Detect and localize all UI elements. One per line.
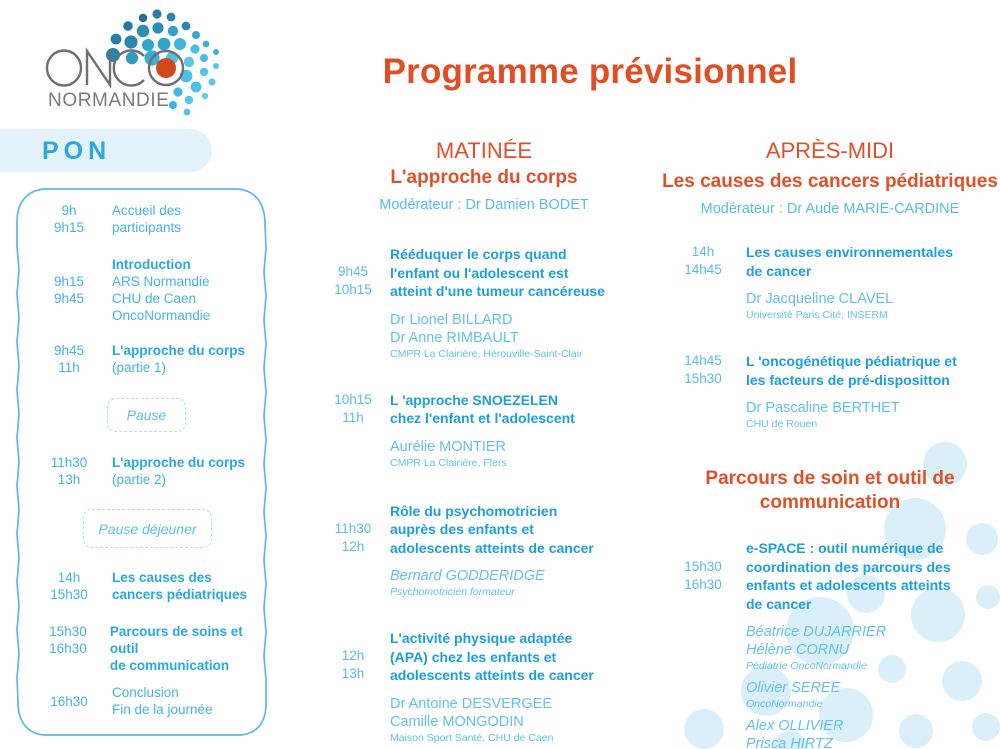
agenda-times: 9h15 9h45: [34, 256, 104, 324]
agenda-line: L'approche du corps: [112, 342, 245, 359]
agenda-time-start: 15h30: [34, 623, 102, 640]
agenda-time-start: 14h: [34, 569, 104, 586]
speaker-affiliation: CHU de Rouen: [746, 417, 1000, 431]
session-title-line: adolescents atteints de cancer: [390, 539, 652, 558]
session-title-line: de cancer: [746, 262, 1000, 281]
agenda-body: L'approche du corps (partie 2): [112, 454, 245, 488]
section2-heading-line: communication: [660, 491, 1000, 515]
speaker-name: Alex OLLIVIER: [746, 717, 1000, 735]
agenda-line: cancers pédiatriques: [112, 586, 247, 603]
session-speakers: Dr Pascaline BERTHET CHU de Rouen: [746, 399, 1000, 431]
speaker-name: Olivier SEREE: [746, 679, 1000, 697]
session-time-end: 15h30: [660, 370, 746, 388]
agenda-line: (partie 1): [112, 359, 245, 376]
agenda-times: 14h 15h30: [34, 569, 104, 603]
session-title-line: L 'oncogénétique pédiatrique et: [746, 352, 1000, 371]
lunch-pause-label: Pause déjeuner: [98, 521, 196, 537]
agenda-line: Les causes des: [112, 569, 247, 586]
agenda-row: 9h15 9h45 Introduction ARS Normandie CHU…: [34, 256, 210, 324]
agenda-time-end: 11h: [34, 359, 104, 376]
session-title-line: Les causes environnementales: [746, 243, 1000, 262]
session-time-start: 10h15: [316, 391, 390, 409]
agenda-line: Accueil des: [112, 202, 181, 219]
page-title: Programme prévisionnel: [330, 52, 850, 92]
session-times: 10h15 11h: [316, 391, 390, 470]
agenda-time-end: 13h: [34, 471, 104, 488]
session-title: Rôle du psychomotricien auprès des enfan…: [390, 502, 652, 558]
session-main: Les causes environnementales de cancer D…: [746, 243, 1000, 322]
session-time-end: 11h: [316, 409, 390, 427]
session-title-line: auprès des enfants et: [390, 520, 652, 539]
agenda-row: 9h 9h15 Accueil des participants: [34, 202, 181, 236]
svg-text:NORMANDIE: NORMANDIE: [48, 90, 170, 111]
speaker-name: Dr Anne RIMBAULT: [390, 329, 652, 347]
agenda-line: participants: [112, 219, 181, 236]
session-time-start: 15h30: [660, 558, 746, 576]
session-title-line: enfants et adolescents atteints: [746, 576, 1000, 595]
agenda-line: de communication: [110, 657, 270, 674]
agenda-time-start: 16h30: [34, 693, 104, 710]
agenda-row: 9h45 11h L'approche du corps (partie 1): [34, 342, 245, 376]
session-title-line: coordination des parcours des: [746, 558, 1000, 577]
session-title-line: les facteurs de pré-dispositton: [746, 371, 1000, 390]
agenda-time-end: 9h15: [34, 219, 104, 236]
agenda-times: 9h45 11h: [34, 342, 104, 376]
agenda-row: 14h 15h30 Les causes des cancers pédiatr…: [34, 569, 247, 603]
session-main: e-SPACE : outil numérique de coordinatio…: [746, 539, 1000, 749]
session-main: L'activité physique adaptée (APA) chez l…: [390, 629, 652, 745]
session-times: 15h30 16h30: [660, 539, 746, 749]
session-time-end: 10h15: [316, 281, 390, 299]
agenda-body: Introduction ARS Normandie CHU de Caen O…: [112, 256, 210, 324]
session-title-line: L 'approche SNOEZELEN: [390, 391, 652, 410]
pon-label: PON: [42, 137, 111, 166]
session-item: 14h 14h45 Les causes environnementales d…: [660, 243, 1000, 322]
agenda-time-end: 15h30: [34, 586, 104, 603]
speaker-name: Dr Lionel BILLARD: [390, 311, 652, 329]
session-title-line: adolescents atteints de cancer: [390, 666, 652, 685]
morning-subheading: L'approche du corps: [316, 166, 652, 190]
agenda-times: 11h30 13h: [34, 454, 104, 488]
agenda-time-end: 9h45: [34, 290, 104, 307]
session-time-end: 14h45: [660, 261, 746, 279]
session-time-start: 12h: [316, 647, 390, 665]
speaker-name: Dr Jacqueline CLAVEL: [746, 290, 1000, 308]
agenda-row: 15h30 16h30 Parcours de soins et outil d…: [34, 623, 270, 674]
agenda-line: ARS Normandie: [112, 273, 210, 290]
session-title: Les causes environnementales de cancer: [746, 243, 1000, 280]
speaker-affiliation: CMPR La Clairière, Flers: [390, 456, 652, 470]
pause-box: Pause: [107, 398, 186, 432]
agenda-body: L'approche du corps (partie 1): [112, 342, 245, 376]
agenda-line: Introduction: [112, 256, 210, 273]
slide-root: NORMANDIE PON Programme prévisionnel 9h …: [0, 0, 1000, 749]
session-speakers: Aurélie MONTIER CMPR La Clairière, Flers: [390, 438, 652, 470]
session-title-line: chez l'enfant et l'adolescent: [390, 409, 652, 428]
afternoon-column: APRÈS-MIDI Les causes des cancers pédiat…: [660, 138, 1000, 749]
session-title: e-SPACE : outil numérique de coordinatio…: [746, 539, 1000, 613]
session-speakers: Dr Antoine DESVERGEE Camille MONGODIN Ma…: [390, 695, 652, 745]
session-time-start: 14h: [660, 243, 746, 261]
session-time-end: 12h: [316, 538, 390, 556]
speaker-name: Camille MONGODIN: [390, 713, 652, 731]
speaker-name: Dr Antoine DESVERGEE: [390, 695, 652, 713]
session-title: L 'oncogénétique pédiatrique et les fact…: [746, 352, 1000, 389]
agenda-list: 9h 9h15 Accueil des participants 9h15 9h…: [14, 186, 270, 738]
onco-normandie-logo-icon: NORMANDIE: [40, 6, 230, 118]
session-item: 11h30 12h Rôle du psychomotricien auprès…: [316, 502, 652, 600]
speaker-name: Dr Pascaline BERTHET: [746, 399, 1000, 417]
lunch-pause-box: Pause déjeuner: [83, 509, 212, 548]
session-title-line: (APA) chez les enfants et: [390, 648, 652, 667]
speaker-affiliation: Psychomotricien formateur: [390, 585, 652, 599]
session-main: Rôle du psychomotricien auprès des enfan…: [390, 502, 652, 600]
agenda-body: Parcours de soins et outil de communicat…: [110, 623, 270, 674]
agenda-line: Parcours de soins et outil: [110, 623, 270, 657]
session-time-end: 16h30: [660, 576, 746, 594]
session-time-start: 11h30: [316, 520, 390, 538]
speaker-name: Prisca HIRTZ: [746, 735, 1000, 749]
agenda-body: Les causes des cancers pédiatriques: [112, 569, 247, 603]
afternoon-section2-heading: Parcours de soin et outil de communicati…: [660, 467, 1000, 515]
agenda-times: 9h 9h15: [34, 202, 104, 236]
morning-moderator: Modérateur : Dr Damien BODET: [316, 197, 652, 213]
afternoon-subheading: Les causes des cancers pédiatriques: [660, 170, 1000, 194]
session-times: 12h 13h: [316, 629, 390, 745]
session-time-end: 13h: [316, 665, 390, 683]
session-item: 9h45 10h15 Rééduquer le corps quand l'en…: [316, 245, 652, 361]
session-time-start: 9h45: [316, 263, 390, 281]
session-title: Rééduquer le corps quand l'enfant ou l'a…: [390, 245, 652, 301]
agenda-body: Accueil des participants: [112, 202, 181, 236]
speaker-affiliation: OncoNormandie: [746, 697, 1000, 711]
afternoon-moderator: Modérateur : Dr Aude MARIE-CARDINE: [660, 201, 1000, 217]
session-title-line: de cancer: [746, 595, 1000, 614]
agenda-times: 16h30: [34, 684, 104, 718]
session-item: 14h45 15h30 L 'oncogénétique pédiatrique…: [660, 352, 1000, 431]
agenda-time-start: 11h30: [34, 454, 104, 471]
session-main: Rééduquer le corps quand l'enfant ou l'a…: [390, 245, 652, 361]
speaker-name: Aurélie MONTIER: [390, 438, 652, 456]
session-item: 10h15 11h L 'approche SNOEZELEN chez l'e…: [316, 391, 652, 470]
pause-label: Pause: [127, 407, 167, 423]
morning-column: MATINÉE L'approche du corps Modérateur :…: [316, 138, 652, 745]
session-title-line: atteint d'une tumeur cancéreuse: [390, 282, 652, 301]
agenda-time-end: 16h30: [34, 640, 102, 657]
afternoon-heading: APRÈS-MIDI: [660, 138, 1000, 164]
session-item: 12h 13h L'activité physique adaptée (APA…: [316, 629, 652, 745]
session-title: L 'approche SNOEZELEN chez l'enfant et l…: [390, 391, 652, 428]
speaker-name: Hélène CORNU: [746, 641, 1000, 659]
agenda-row: 16h30 Conclusion Fin de la journée: [34, 684, 213, 718]
session-speakers: Bernard GODDERIDGE Psychomotricien forma…: [390, 567, 652, 599]
session-times: 14h45 15h30: [660, 352, 746, 431]
session-title: L'activité physique adaptée (APA) chez l…: [390, 629, 652, 685]
session-speakers: Dr Jacqueline CLAVEL Université Paris Ci…: [746, 290, 1000, 322]
agenda-time-start: 9h: [34, 202, 104, 219]
section2-heading-line: Parcours de soin et outil de: [660, 467, 1000, 491]
session-main: L 'approche SNOEZELEN chez l'enfant et l…: [390, 391, 652, 470]
agenda-time-start: 9h45: [34, 342, 104, 359]
agenda-times: 15h30 16h30: [34, 623, 102, 674]
speaker-affiliation: Université Paris Cité, INSERM: [746, 308, 1000, 322]
agenda-time-start: 9h15: [34, 273, 104, 290]
session-title-line: l'enfant ou l'adolescent est: [390, 264, 652, 283]
session-times: 9h45 10h15: [316, 245, 390, 361]
speaker-affiliation: Pédiatrie OncoNormandie: [746, 659, 1000, 673]
morning-heading: MATINÉE: [316, 138, 652, 164]
agenda-body: Conclusion Fin de la journée: [112, 684, 213, 718]
session-main: L 'oncogénétique pédiatrique et les fact…: [746, 352, 1000, 431]
speaker-affiliation: Maison Sport Santé, CHU de Caen: [390, 731, 652, 745]
speaker-name: Bernard GODDERIDGE: [390, 567, 652, 585]
session-speakers: Dr Lionel BILLARD Dr Anne RIMBAULT CMPR …: [390, 311, 652, 361]
session-title-line: e-SPACE : outil numérique de: [746, 539, 1000, 558]
agenda-line: L'approche du corps: [112, 454, 245, 471]
agenda-line: (partie 2): [112, 471, 245, 488]
agenda-line: OncoNormandie: [112, 307, 210, 324]
session-speakers: Béatrice DUJARRIER Hélène CORNU Pédiatri…: [746, 623, 1000, 749]
agenda-line: Conclusion: [112, 684, 213, 701]
session-title-line: L'activité physique adaptée: [390, 629, 652, 648]
session-title-line: Rôle du psychomotricien: [390, 502, 652, 521]
session-title-line: Rééduquer le corps quand: [390, 245, 652, 264]
agenda-line: Fin de la journée: [112, 701, 213, 718]
session-item: 15h30 16h30 e-SPACE : outil numérique de…: [660, 539, 1000, 749]
session-times: 11h30 12h: [316, 502, 390, 600]
speaker-affiliation: CMPR La Clairière, Hérouville-Saint-Clai…: [390, 347, 652, 361]
speaker-name: Béatrice DUJARRIER: [746, 623, 1000, 641]
session-time-start: 14h45: [660, 352, 746, 370]
session-times: 14h 14h45: [660, 243, 746, 322]
agenda-line: CHU de Caen: [112, 290, 210, 307]
agenda-row: 11h30 13h L'approche du corps (partie 2): [34, 454, 245, 488]
logo: NORMANDIE: [40, 6, 230, 118]
